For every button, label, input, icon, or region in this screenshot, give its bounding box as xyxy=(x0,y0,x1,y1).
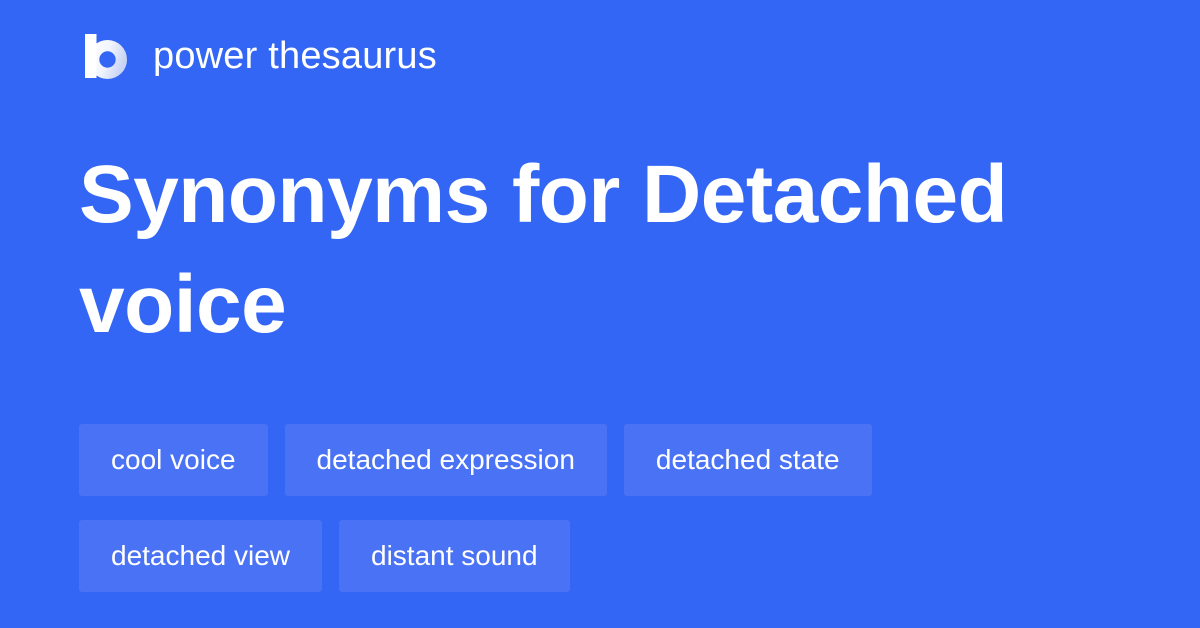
page-title: Synonyms for Detached voice xyxy=(79,140,1039,360)
synonym-chip[interactable]: detached state xyxy=(624,424,872,496)
power-thesaurus-b-logo-icon xyxy=(79,30,131,82)
synonym-chip[interactable]: detached view xyxy=(79,520,322,592)
synonym-chip-list: cool voice detached expression detached … xyxy=(79,424,1079,592)
synonym-chip[interactable]: distant sound xyxy=(339,520,570,592)
brand-header[interactable]: power thesaurus xyxy=(79,28,437,84)
synonym-chip[interactable]: cool voice xyxy=(79,424,268,496)
brand-name: power thesaurus xyxy=(153,37,437,75)
og-card: power thesaurus Synonyms for Detached vo… xyxy=(0,0,1200,628)
synonym-chip[interactable]: detached expression xyxy=(285,424,607,496)
